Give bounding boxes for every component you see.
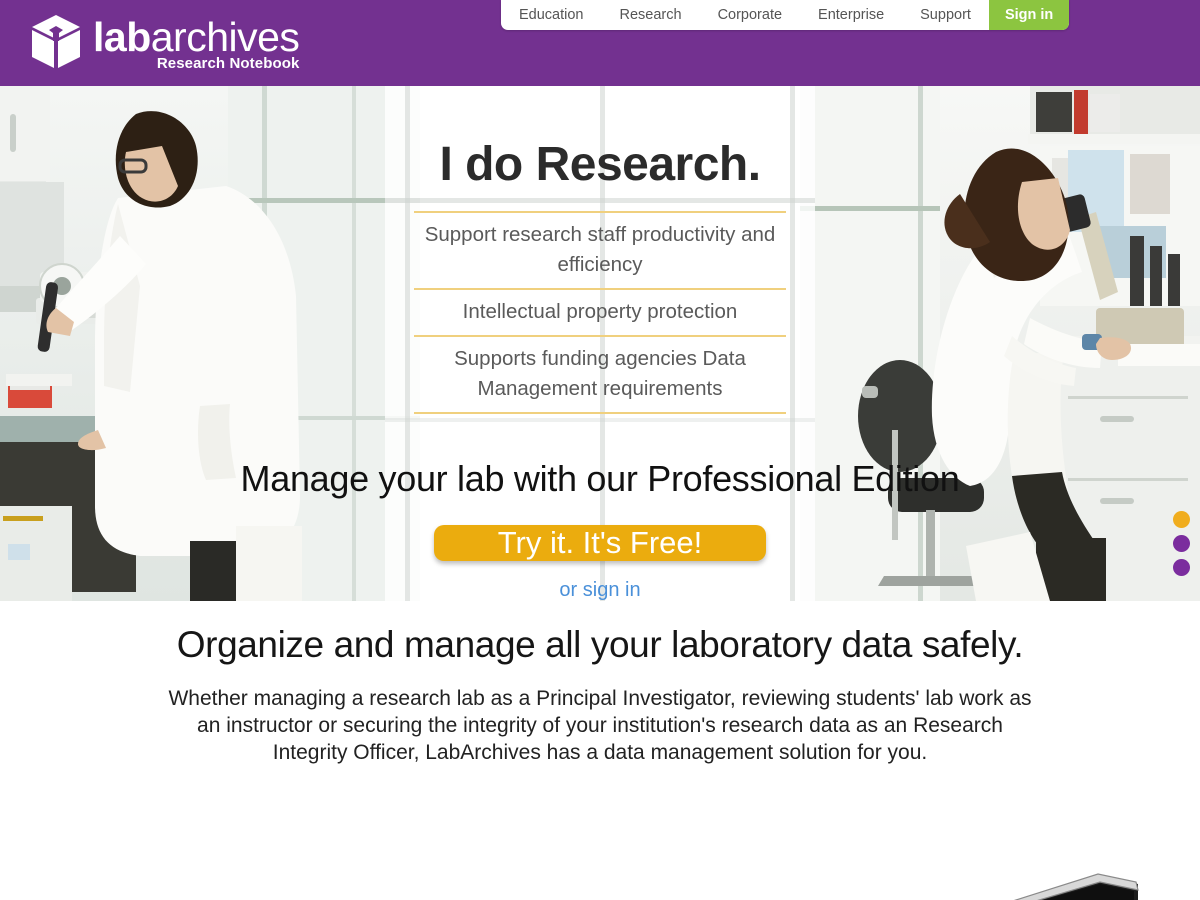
cube-icon [30, 14, 82, 70]
nav-item-support[interactable]: Support [902, 0, 989, 30]
carousel-dots [1173, 511, 1190, 576]
intro-section: Organize and manage all your laboratory … [0, 601, 1200, 900]
logo-wordmark: labarchives Research Notebook [93, 14, 299, 72]
try-it-free-button[interactable]: Try it. It's Free! [434, 525, 766, 561]
site-logo[interactable]: labarchives Research Notebook [30, 14, 299, 72]
or-sign-in-link[interactable]: or sign in [559, 579, 640, 601]
main-navigation: Education Research Corporate Enterprise … [501, 0, 1069, 30]
nav-item-research[interactable]: Research [602, 0, 700, 30]
hero-title: I do Research. [439, 141, 760, 189]
hero-feature-3: Supports funding agencies Data Managemen… [414, 337, 786, 412]
sign-in-button[interactable]: Sign in [989, 0, 1069, 30]
nav-item-enterprise[interactable]: Enterprise [800, 0, 902, 30]
logo-name-light: archives [151, 14, 300, 60]
hero-banner: I do Research. Support research staff pr… [0, 86, 1200, 601]
monitor-illustration [890, 850, 1140, 900]
carousel-dot-1[interactable] [1173, 511, 1190, 528]
hero-content: I do Research. Support research staff pr… [0, 86, 1200, 601]
carousel-dot-2[interactable] [1173, 535, 1190, 552]
site-header: labarchives Research Notebook Education … [0, 0, 1200, 86]
section-title: Organize and manage all your laboratory … [0, 609, 1200, 669]
section-body: Whether managing a research lab as a Pri… [160, 685, 1040, 766]
carousel-dot-3[interactable] [1173, 559, 1190, 576]
hero-subheading: Manage your lab with our Professional Ed… [241, 456, 960, 501]
hero-feature-2: Intellectual property protection [414, 290, 786, 335]
hero-feature-list: Support research staff productivity and … [414, 211, 786, 414]
logo-name-bold: lab [93, 14, 151, 60]
feature-divider [414, 412, 786, 414]
hero-feature-1: Support research staff productivity and … [414, 213, 786, 288]
nav-item-corporate[interactable]: Corporate [700, 0, 800, 30]
nav-item-education[interactable]: Education [501, 0, 602, 30]
